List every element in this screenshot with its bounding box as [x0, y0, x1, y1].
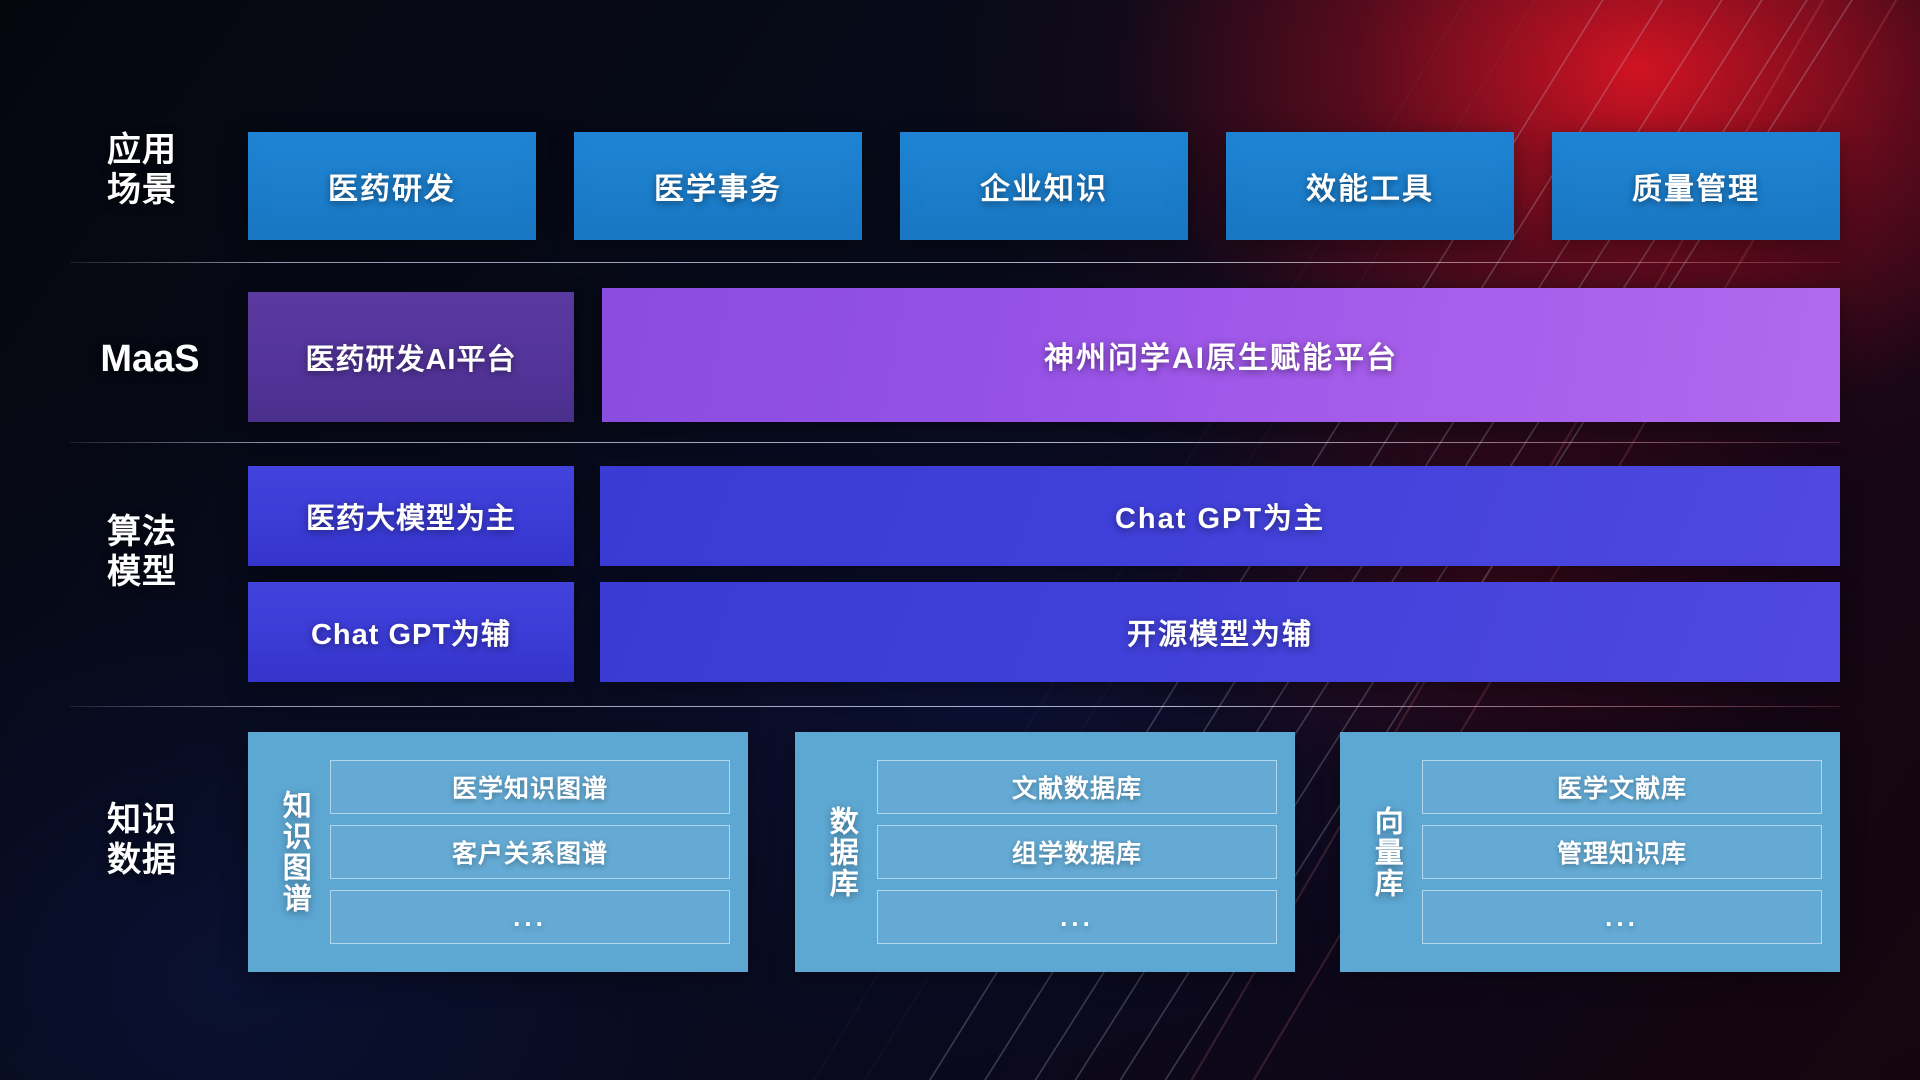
layer-grid: 应用 场景 医药研发 医学事务 企业知识 效能工具 质量管理 MaaS 医药研发… — [0, 0, 1920, 1080]
knowledge-item-vector-more[interactable]: ... — [1422, 890, 1822, 944]
knowledge-group-graph: 知识图谱 医学知识图谱 客户关系图谱 ... — [248, 732, 748, 972]
knowledge-item-medical-literature-store[interactable]: 医学文献库 — [1422, 760, 1822, 814]
row-label-knowledge: 知识 数据 — [62, 800, 222, 880]
knowledge-group-database-items: 文献数据库 组学数据库 ... — [877, 748, 1277, 956]
algo-box-medicine-llm-primary[interactable]: 医药大模型为主 — [248, 466, 574, 566]
algo-box-opensource-secondary[interactable]: 开源模型为辅 — [600, 582, 1840, 682]
row-label-algorithm: 算法 模型 — [62, 512, 222, 592]
row-label-maas: MaaS — [62, 337, 238, 382]
knowledge-item-omics-db[interactable]: 组学数据库 — [877, 825, 1277, 879]
maas-box-shenzhou-wenxue-platform[interactable]: 神州问学AI原生赋能平台 — [602, 288, 1840, 422]
knowledge-group-vector-label: 向量库 — [1350, 748, 1422, 956]
separator-algorithm-knowledge — [70, 706, 1840, 707]
app-box-quality-management[interactable]: 质量管理 — [1552, 132, 1840, 240]
maas-box-medicine-ai-platform[interactable]: 医药研发AI平台 — [248, 292, 574, 422]
row-label-maas-line-1: MaaS — [62, 337, 238, 382]
row-label-knowledge-line-2: 数据 — [62, 840, 222, 880]
row-label-application-line-2: 场景 — [62, 170, 222, 210]
knowledge-item-medical-graph[interactable]: 医学知识图谱 — [330, 760, 730, 814]
row-label-algorithm-line-2: 模型 — [62, 552, 222, 592]
knowledge-item-literature-db[interactable]: 文献数据库 — [877, 760, 1277, 814]
knowledge-group-graph-label: 知识图谱 — [258, 748, 330, 956]
algo-box-chatgpt-primary[interactable]: Chat GPT为主 — [600, 466, 1840, 566]
separator-application-maas — [70, 262, 1840, 263]
app-box-medicine-rnd[interactable]: 医药研发 — [248, 132, 536, 240]
knowledge-item-graph-more[interactable]: ... — [330, 890, 730, 944]
row-label-application-line-1: 应用 — [62, 130, 222, 170]
app-box-efficiency-tools[interactable]: 效能工具 — [1226, 132, 1514, 240]
separator-maas-algorithm — [70, 442, 1840, 443]
row-label-knowledge-line-1: 知识 — [62, 800, 222, 840]
knowledge-group-vector-items: 医学文献库 管理知识库 ... — [1422, 748, 1822, 956]
knowledge-group-database-label: 数据库 — [805, 748, 877, 956]
knowledge-group-database: 数据库 文献数据库 组学数据库 ... — [795, 732, 1295, 972]
knowledge-item-management-knowledge-store[interactable]: 管理知识库 — [1422, 825, 1822, 879]
algo-box-chatgpt-secondary[interactable]: Chat GPT为辅 — [248, 582, 574, 682]
knowledge-group-graph-items: 医学知识图谱 客户关系图谱 ... — [330, 748, 730, 956]
row-label-algorithm-line-1: 算法 — [62, 512, 222, 552]
app-box-enterprise-knowledge[interactable]: 企业知识 — [900, 132, 1188, 240]
diagram-canvas: 应用 场景 医药研发 医学事务 企业知识 效能工具 质量管理 MaaS 医药研发… — [0, 0, 1920, 1080]
row-label-application: 应用 场景 — [62, 130, 222, 210]
app-box-medical-affairs[interactable]: 医学事务 — [574, 132, 862, 240]
knowledge-group-vector: 向量库 医学文献库 管理知识库 ... — [1340, 732, 1840, 972]
knowledge-item-database-more[interactable]: ... — [877, 890, 1277, 944]
knowledge-item-customer-graph[interactable]: 客户关系图谱 — [330, 825, 730, 879]
